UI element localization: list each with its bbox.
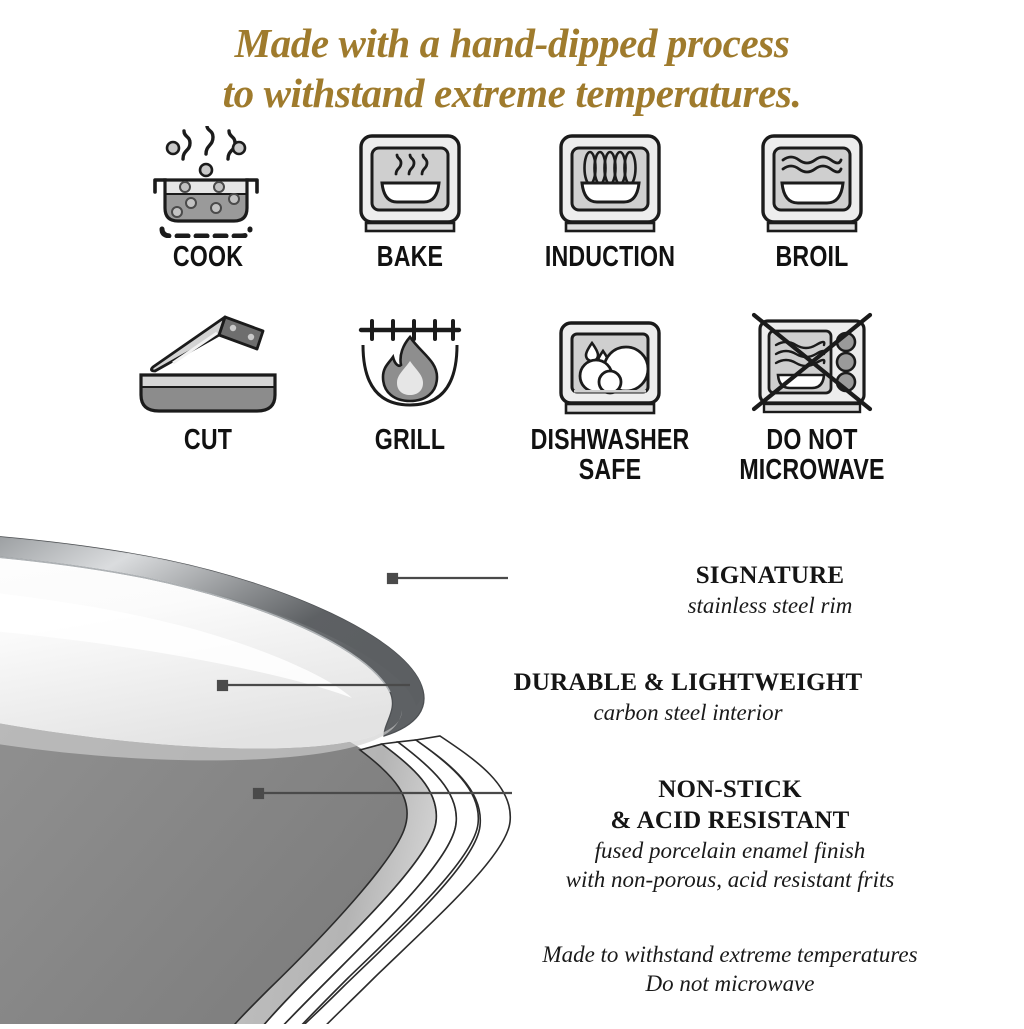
headline-line-2: to withstand extreme temperatures. [0, 68, 1024, 118]
pot-icon [108, 126, 308, 238]
callout-signature: SIGNATURE stainless steel rim [510, 560, 1024, 620]
icon-cell-do-not-microwave: DO NOT MICROWAVE [712, 309, 912, 485]
callout-signature-title: SIGNATURE [510, 560, 1024, 591]
icon-cell-cook: COOK [108, 126, 308, 272]
callout-signature-subtitle: stainless steel rim [510, 591, 1024, 620]
callout-durable-subtitle: carbon steel interior [428, 698, 948, 727]
icon-label-do-not-microwave: DO NOT MICROWAVE [732, 425, 892, 485]
callout-non-stick-subtitle: fused porcelain enamel finish with non-p… [470, 836, 990, 894]
callout-durable-title: DURABLE & LIGHTWEIGHT [428, 667, 948, 698]
oven-broil-icon [712, 126, 912, 238]
microwave-crossed-icon [712, 309, 912, 421]
callout-non-stick: NON-STICK & ACID RESISTANT fused porcela… [470, 774, 990, 894]
icon-cell-broil: BROIL [712, 126, 912, 272]
icon-label-induction: INDUCTION [530, 242, 690, 272]
page-title: Made with a hand-dipped process to withs… [0, 18, 1024, 118]
icon-cell-induction: INDUCTION [510, 126, 710, 272]
headline-line-1: Made with a hand-dipped process [235, 20, 790, 66]
icon-label-bake: BAKE [330, 242, 490, 272]
dishwasher-icon [510, 309, 710, 421]
cookware-cutaway-illustration [0, 430, 560, 1024]
grill-flame-icon [310, 309, 510, 421]
oven-induction-icon [510, 126, 710, 238]
icon-label-broil: BROIL [732, 242, 892, 272]
product-feature-graphic: Made with a hand-dipped process to withs… [0, 0, 1024, 1024]
footnote-text: Made to withstand extreme temperatures D… [470, 940, 990, 998]
callout-non-stick-title: NON-STICK & ACID RESISTANT [470, 774, 990, 836]
callout-durable: DURABLE & LIGHTWEIGHT carbon steel inter… [428, 667, 948, 727]
icon-cell-bake: BAKE [310, 126, 510, 272]
icon-label-cook: COOK [128, 242, 288, 272]
oven-bake-icon [310, 126, 510, 238]
knife-pan-icon [108, 309, 308, 421]
